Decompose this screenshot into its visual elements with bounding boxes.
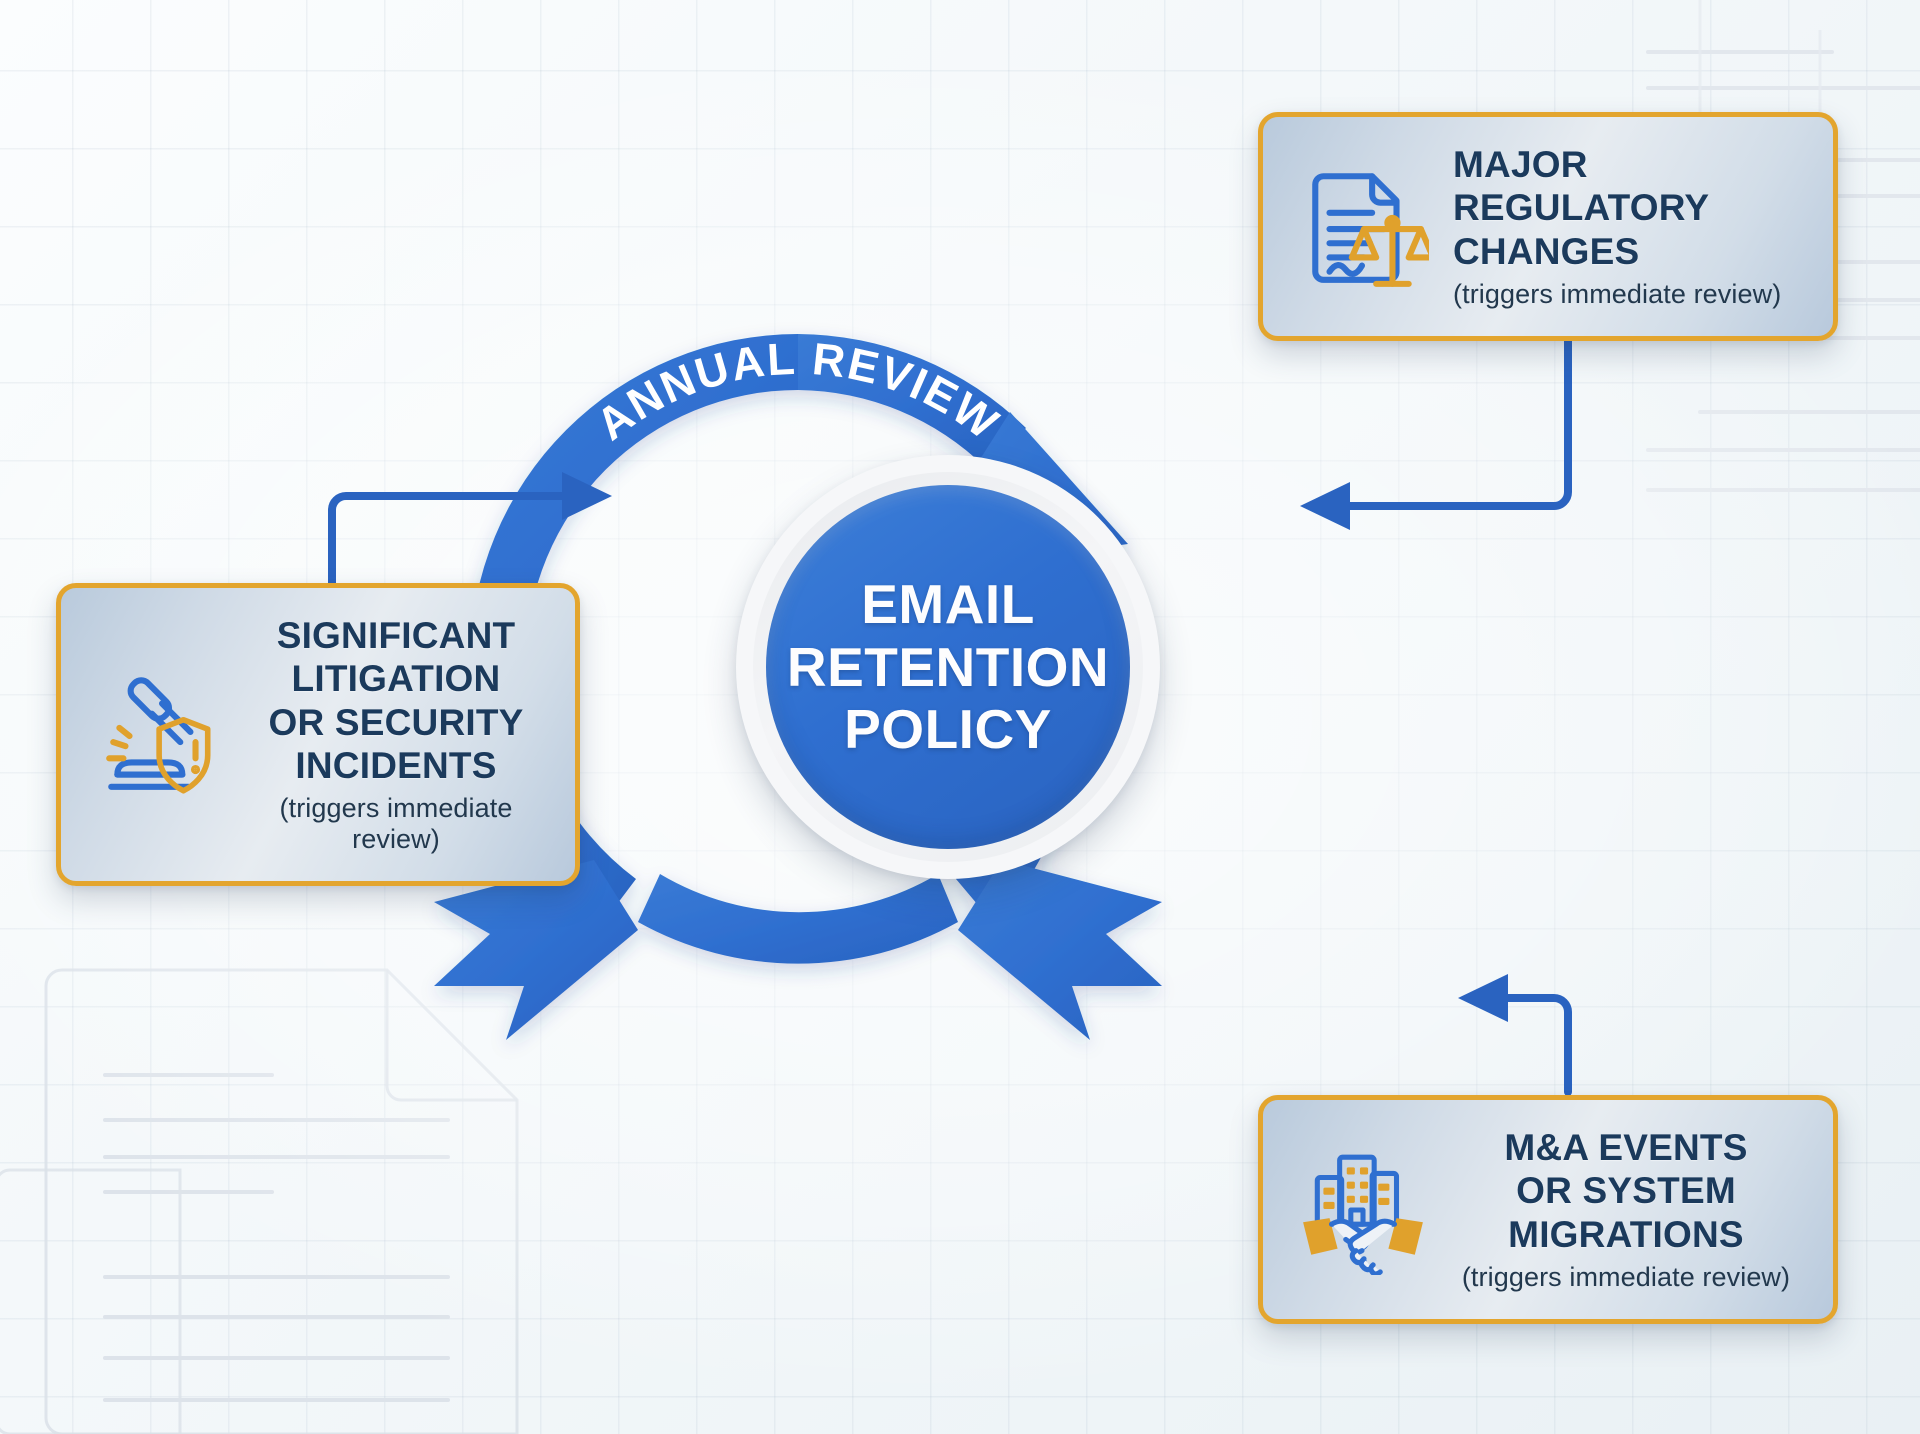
card-title-regulatory: MAJOR REGULATORY CHANGES xyxy=(1453,143,1799,273)
card-subtitle-litigation: (triggers immediate review) xyxy=(251,793,541,855)
card-title-mna: M&A EVENTS OR SYSTEM MIGRATIONS xyxy=(1453,1126,1799,1256)
card-subtitle-mna: (triggers immediate review) xyxy=(1453,1262,1799,1293)
center-label-line-2: RETENTION xyxy=(787,636,1109,699)
gavel-shield-alert-icon xyxy=(95,669,227,801)
card-title-line: OR SECURITY xyxy=(251,701,541,744)
card-significant-litigation[interactable]: SIGNIFICANT LITIGATION OR SECURITY INCID… xyxy=(56,583,580,886)
card-title-line: MAJOR xyxy=(1453,143,1799,186)
arrowhead-mna xyxy=(1458,974,1508,1022)
card-title-line: INCIDENTS xyxy=(251,744,541,787)
card-title-line: REGULATORY xyxy=(1453,186,1799,229)
card-title-line: LITIGATION xyxy=(251,657,541,700)
arrowhead-regulatory xyxy=(1300,482,1350,530)
card-title-line: OR SYSTEM xyxy=(1453,1169,1799,1212)
diagram-canvas: ANNUAL REVIEW EMAIL RETENTION POLICY xyxy=(0,0,1920,1434)
card-title-litigation: SIGNIFICANT LITIGATION OR SECURITY INCID… xyxy=(251,614,541,787)
card-major-regulatory-changes[interactable]: MAJOR REGULATORY CHANGES (triggers immed… xyxy=(1258,112,1838,341)
card-mna-events[interactable]: M&A EVENTS OR SYSTEM MIGRATIONS (trigger… xyxy=(1258,1095,1838,1324)
center-policy-label: EMAIL RETENTION POLICY xyxy=(787,573,1109,761)
card-title-line: M&A EVENTS xyxy=(1453,1126,1799,1169)
handshake-buildings-icon xyxy=(1297,1143,1429,1275)
connector-mna xyxy=(1486,998,1568,1092)
document-scales-icon xyxy=(1297,160,1429,292)
center-policy-circle: EMAIL RETENTION POLICY xyxy=(766,485,1130,849)
center-label-line-1: EMAIL xyxy=(787,573,1109,636)
center-label-line-3: POLICY xyxy=(787,698,1109,761)
card-title-line: MIGRATIONS xyxy=(1453,1213,1799,1256)
card-title-line: SIGNIFICANT xyxy=(251,614,541,657)
card-title-line: CHANGES xyxy=(1453,230,1799,273)
card-subtitle-regulatory: (triggers immediate review) xyxy=(1453,279,1799,310)
